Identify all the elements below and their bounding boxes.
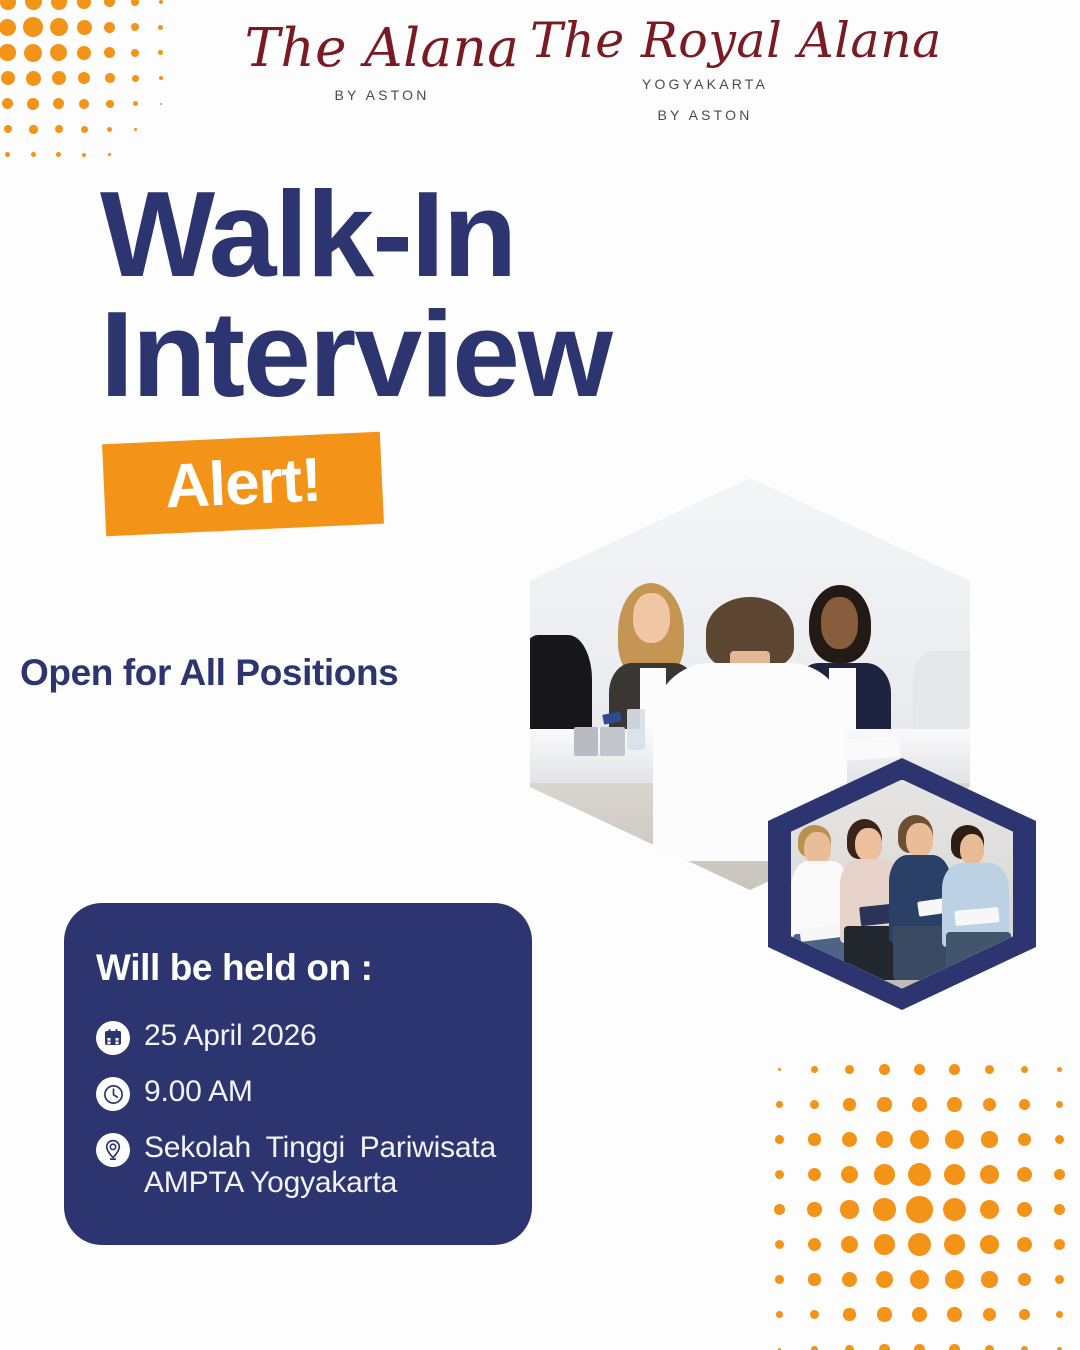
halftone-dot — [983, 1098, 996, 1111]
halftone-dot — [877, 1097, 891, 1111]
halftone-dot — [811, 1066, 818, 1073]
event-location-word-2: Tinggi — [266, 1131, 345, 1166]
halftone-dot — [808, 1273, 820, 1285]
page-title: Walk-In Interview — [100, 175, 860, 414]
halftone-dot — [841, 1236, 858, 1253]
halftone-dot — [807, 1202, 821, 1216]
headline-line-1: Walk-In — [100, 175, 860, 295]
event-details-card: Will be held on : 25 April 2026 — [64, 903, 532, 1245]
halftone-dot — [985, 1345, 995, 1350]
halftone-dot — [983, 1308, 996, 1321]
halftone-dot — [843, 1098, 855, 1110]
halftone-dot — [778, 1068, 782, 1072]
table-cup-left — [574, 727, 598, 756]
halftone-dot — [845, 1345, 854, 1350]
event-date-value: 25 April 2026 — [144, 1019, 317, 1054]
halftone-dot — [879, 1064, 889, 1074]
logo-the-royal-alana-byline: BY ASTON — [530, 105, 880, 127]
table-cup-right — [600, 727, 624, 756]
halftone-dot — [910, 1130, 929, 1149]
waiting-candidates-photo — [791, 780, 1013, 989]
halftone-dot — [912, 1307, 927, 1322]
halftone-dot — [1018, 1273, 1031, 1286]
event-location-value: Sekolah Tinggi Pariwisata AMPTA Yogyakar… — [144, 1131, 496, 1201]
halftone-dot — [776, 1101, 783, 1108]
waiting-candidate-4-face — [960, 834, 984, 865]
halftone-dot — [1054, 1204, 1066, 1216]
halftone-dot — [810, 1100, 820, 1110]
halftone-dot — [980, 1165, 999, 1184]
halftone-dot — [843, 1308, 855, 1320]
halftone-dot — [108, 153, 111, 156]
event-location-row: Sekolah Tinggi Pariwisata AMPTA Yogyakar… — [96, 1131, 496, 1201]
halftone-dot — [876, 1131, 894, 1149]
halftone-dot — [980, 1200, 1000, 1220]
logo-the-alana-wordmark: The Alana — [232, 22, 532, 75]
logo-the-alana-byline: BY ASTON — [232, 85, 532, 107]
headline-line-2: Interview — [100, 295, 860, 415]
poster-root: The Alana BY ASTON The Royal Alana YOGYA… — [0, 0, 1080, 1350]
waiting-candidate-4-legs — [946, 932, 1010, 980]
halftone-dot — [82, 153, 86, 157]
halftone-dot — [945, 1270, 963, 1288]
halftone-dot — [1017, 1202, 1033, 1218]
chair-far-right — [530, 478, 574, 577]
halftone-dot — [1054, 1169, 1065, 1180]
halftone-dot — [808, 1238, 822, 1252]
halftone-dot — [981, 1131, 997, 1147]
event-date-row: 25 April 2026 — [96, 1019, 496, 1055]
halftone-dot — [947, 1097, 962, 1112]
halftone-dot — [31, 152, 36, 157]
halftone-dot — [1055, 1135, 1065, 1145]
halftone-dot — [876, 1271, 894, 1289]
halftone-dot — [874, 1164, 895, 1185]
halftone-dot — [1021, 1346, 1029, 1350]
logo-the-royal-alana-city: YOGYAKARTA — [530, 74, 880, 96]
halftone-dot — [1019, 1309, 1030, 1320]
halftone-dot — [908, 1233, 931, 1256]
halftone-dot — [947, 1307, 962, 1322]
halftone-dot — [914, 1344, 925, 1350]
halftone-dot — [808, 1133, 820, 1145]
halftone-dot — [877, 1307, 891, 1321]
interviewer-right-face — [821, 597, 858, 649]
location-icon — [96, 1133, 130, 1167]
waiting-candidate-2-face — [855, 828, 882, 861]
halftone-dot — [840, 1200, 858, 1218]
halftone-dot — [944, 1164, 966, 1186]
table-paper — [837, 735, 900, 760]
halftone-dot — [811, 1346, 818, 1350]
alert-badge: Alert! — [102, 432, 384, 537]
halftone-dot — [1054, 1239, 1065, 1250]
halftone-dot — [775, 1275, 784, 1284]
halftone-dot — [981, 1271, 997, 1287]
halftone-dot — [808, 1168, 822, 1182]
halftone-dot — [841, 1166, 858, 1183]
halftone-dot — [949, 1344, 960, 1350]
interviewer-left-face — [633, 593, 670, 642]
halftone-dot — [775, 1135, 784, 1144]
event-details-title: Will be held on : — [96, 947, 496, 989]
halftone-dot — [776, 1311, 783, 1318]
halftone-dot — [912, 1097, 927, 1112]
halftone-dot — [945, 1130, 963, 1148]
halftone-dot — [914, 1064, 925, 1075]
halftone-dot — [910, 1270, 929, 1289]
halftone-dot — [985, 1065, 995, 1075]
halftone-dot — [842, 1272, 857, 1287]
halftone-dot — [1056, 1311, 1064, 1319]
subtitle: Open for All Positions — [20, 652, 398, 694]
halftone-dot — [1055, 1275, 1065, 1285]
halftone-dot — [5, 152, 10, 157]
halftone-dot — [56, 152, 61, 157]
halftone-dot — [775, 1240, 785, 1250]
halftone-dot — [1057, 1067, 1062, 1072]
logo-bar: The Alana BY ASTON The Royal Alana YOGYA… — [0, 0, 1080, 140]
halftone-dot — [874, 1234, 895, 1255]
halftone-dots-bottom-right — [762, 1052, 1080, 1350]
halftone-dot — [944, 1234, 966, 1256]
logo-the-royal-alana: The Royal Alana YOGYAKARTA BY ASTON — [530, 16, 880, 126]
event-location-line-1: Sekolah Tinggi Pariwisata — [144, 1131, 496, 1166]
halftone-dot — [845, 1065, 854, 1074]
halftone-dot — [775, 1170, 785, 1180]
event-time-value: 9.00 AM — [144, 1075, 253, 1110]
logo-the-alana: The Alana BY ASTON — [232, 22, 532, 107]
alert-badge-label: Alert! — [164, 449, 323, 518]
halftone-dot — [1021, 1066, 1029, 1074]
clock-icon — [96, 1077, 130, 1111]
halftone-dot — [949, 1064, 960, 1075]
halftone-dot — [1018, 1133, 1031, 1146]
halftone-dot — [873, 1198, 895, 1220]
event-location-word-1: Sekolah — [144, 1131, 251, 1166]
event-location-line-2: AMPTA Yogyakarta — [144, 1166, 496, 1201]
halftone-dot — [810, 1310, 820, 1320]
halftone-dot — [1017, 1237, 1032, 1252]
waiting-candidate-3-face — [906, 823, 933, 856]
calendar-icon — [96, 1021, 130, 1055]
event-time-row: 9.00 AM — [96, 1075, 496, 1111]
halftone-dot — [943, 1198, 967, 1222]
halftone-dot — [906, 1196, 932, 1222]
halftone-dot — [774, 1204, 784, 1214]
halftone-dot — [1056, 1101, 1064, 1109]
halftone-dot — [980, 1235, 999, 1254]
halftone-dot — [908, 1163, 931, 1186]
halftone-dot — [1017, 1167, 1032, 1182]
halftone-dot — [1019, 1099, 1030, 1110]
table-water-glass — [627, 709, 645, 750]
halftone-dot — [842, 1132, 857, 1147]
halftone-dot — [879, 1344, 889, 1350]
event-location-word-3: Pariwisata — [360, 1131, 496, 1166]
logo-the-royal-alana-wordmark: The Royal Alana — [530, 16, 880, 65]
